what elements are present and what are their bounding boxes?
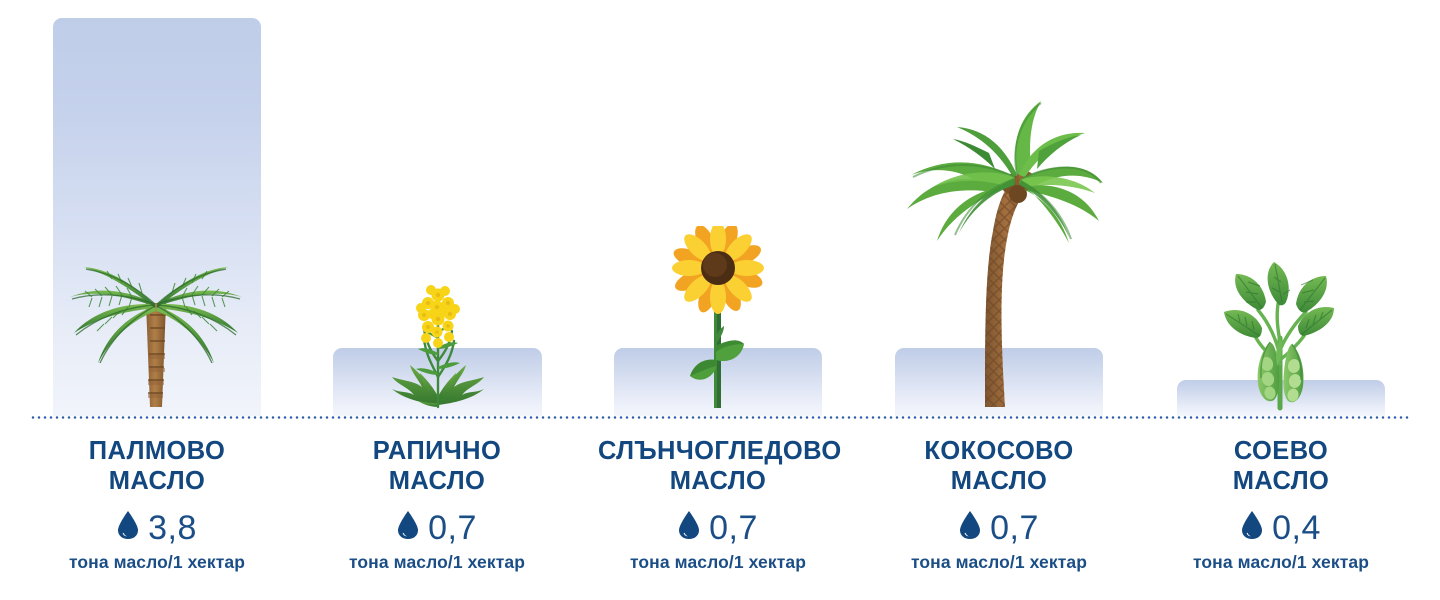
chart-value-row: 0,7 [880, 510, 1118, 545]
chart-label-title: КОКОСОВО МАСЛО [880, 436, 1118, 496]
chart-unit-label: тона масло/1 хектар [318, 552, 556, 573]
chart-value-row: 0,7 [318, 510, 556, 545]
droplet-icon [397, 510, 419, 545]
chart-label-title: ПАЛМОВО МАСЛО [38, 436, 276, 496]
bar-palm-oil [53, 18, 261, 416]
bar-rapeseed-oil [333, 348, 542, 416]
chart-label-rapeseed-oil: РАПИЧНО МАСЛО 0,7 тона масло/1 хектар [318, 436, 556, 573]
chart-unit-label: тона масло/1 хектар [598, 552, 838, 573]
chart-unit-label: тона масло/1 хектар [38, 552, 276, 573]
chart-baseline [30, 416, 1410, 419]
chart-unit-label: тона масло/1 хектар [1162, 552, 1400, 573]
chart-value: 0,7 [428, 511, 477, 545]
chart-label-coconut-oil: КОКОСОВО МАСЛО 0,7 тона масло/1 хектар [880, 436, 1118, 573]
chart-label-palm-oil: ПАЛМОВО МАСЛО 3,8 тона масло/1 хектар [38, 436, 276, 573]
chart-value: 3,8 [148, 511, 197, 545]
chart-value-row: 0,7 [598, 510, 838, 545]
chart-value-row: 3,8 [38, 510, 276, 545]
chart-label-title: РАПИЧНО МАСЛО [318, 436, 556, 496]
droplet-icon [1241, 510, 1263, 545]
chart-value: 0,7 [709, 511, 758, 545]
infographic-chart: ПАЛМОВО МАСЛО 3,8 тона масло/1 хектар РА… [0, 0, 1440, 600]
bar-coconut-oil [895, 348, 1103, 416]
chart-value: 0,7 [990, 511, 1039, 545]
chart-unit-label: тона масло/1 хектар [880, 552, 1118, 573]
chart-label-soybean-oil: СОЕВО МАСЛО 0,4 тона масло/1 хектар [1162, 436, 1400, 573]
droplet-icon [959, 510, 981, 545]
chart-label-sunflower-oil: СЛЪНЧОГЛЕДОВО МАСЛО 0,7 тона масло/1 хек… [598, 436, 838, 573]
chart-value-row: 0,4 [1162, 510, 1400, 545]
chart-value: 0,4 [1272, 511, 1321, 545]
droplet-icon [117, 510, 139, 545]
bar-soybean-oil [1177, 380, 1385, 416]
chart-label-title: СОЕВО МАСЛО [1162, 436, 1400, 496]
chart-label-title: СЛЪНЧОГЛЕДОВО МАСЛО [598, 436, 838, 496]
droplet-icon [678, 510, 700, 545]
bar-sunflower-oil [614, 348, 822, 416]
